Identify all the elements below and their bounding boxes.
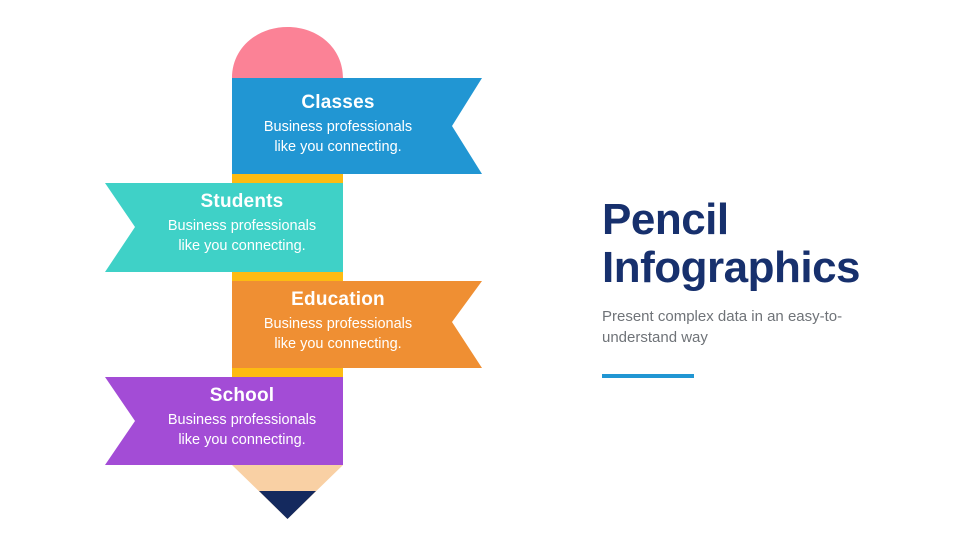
page-title: Pencil Infographics xyxy=(602,196,942,291)
ribbon-shape-education[interactable] xyxy=(232,281,482,368)
pencil-infographic: Classes Business professionals like you … xyxy=(0,0,560,551)
page-title-line-2: Infographics xyxy=(602,244,942,292)
ribbon-shape-students[interactable] xyxy=(105,183,343,272)
pencil-shapes-svg xyxy=(0,0,560,551)
slide-canvas: Classes Business professionals like you … xyxy=(0,0,980,551)
pencil-band-2 xyxy=(232,272,343,281)
title-panel: Pencil Infographics Present complex data… xyxy=(602,196,942,378)
page-subtitle: Present complex data in an easy-to-under… xyxy=(602,307,852,348)
pencil-graphite-tip xyxy=(259,491,316,519)
ribbon-shape-school[interactable] xyxy=(105,377,343,465)
pencil-band-1 xyxy=(232,174,343,183)
pencil-eraser xyxy=(232,27,343,83)
page-title-line-1: Pencil xyxy=(602,196,942,244)
pencil-band-3 xyxy=(232,368,343,377)
accent-rule xyxy=(602,374,694,378)
ribbon-shape-classes[interactable] xyxy=(232,78,482,174)
